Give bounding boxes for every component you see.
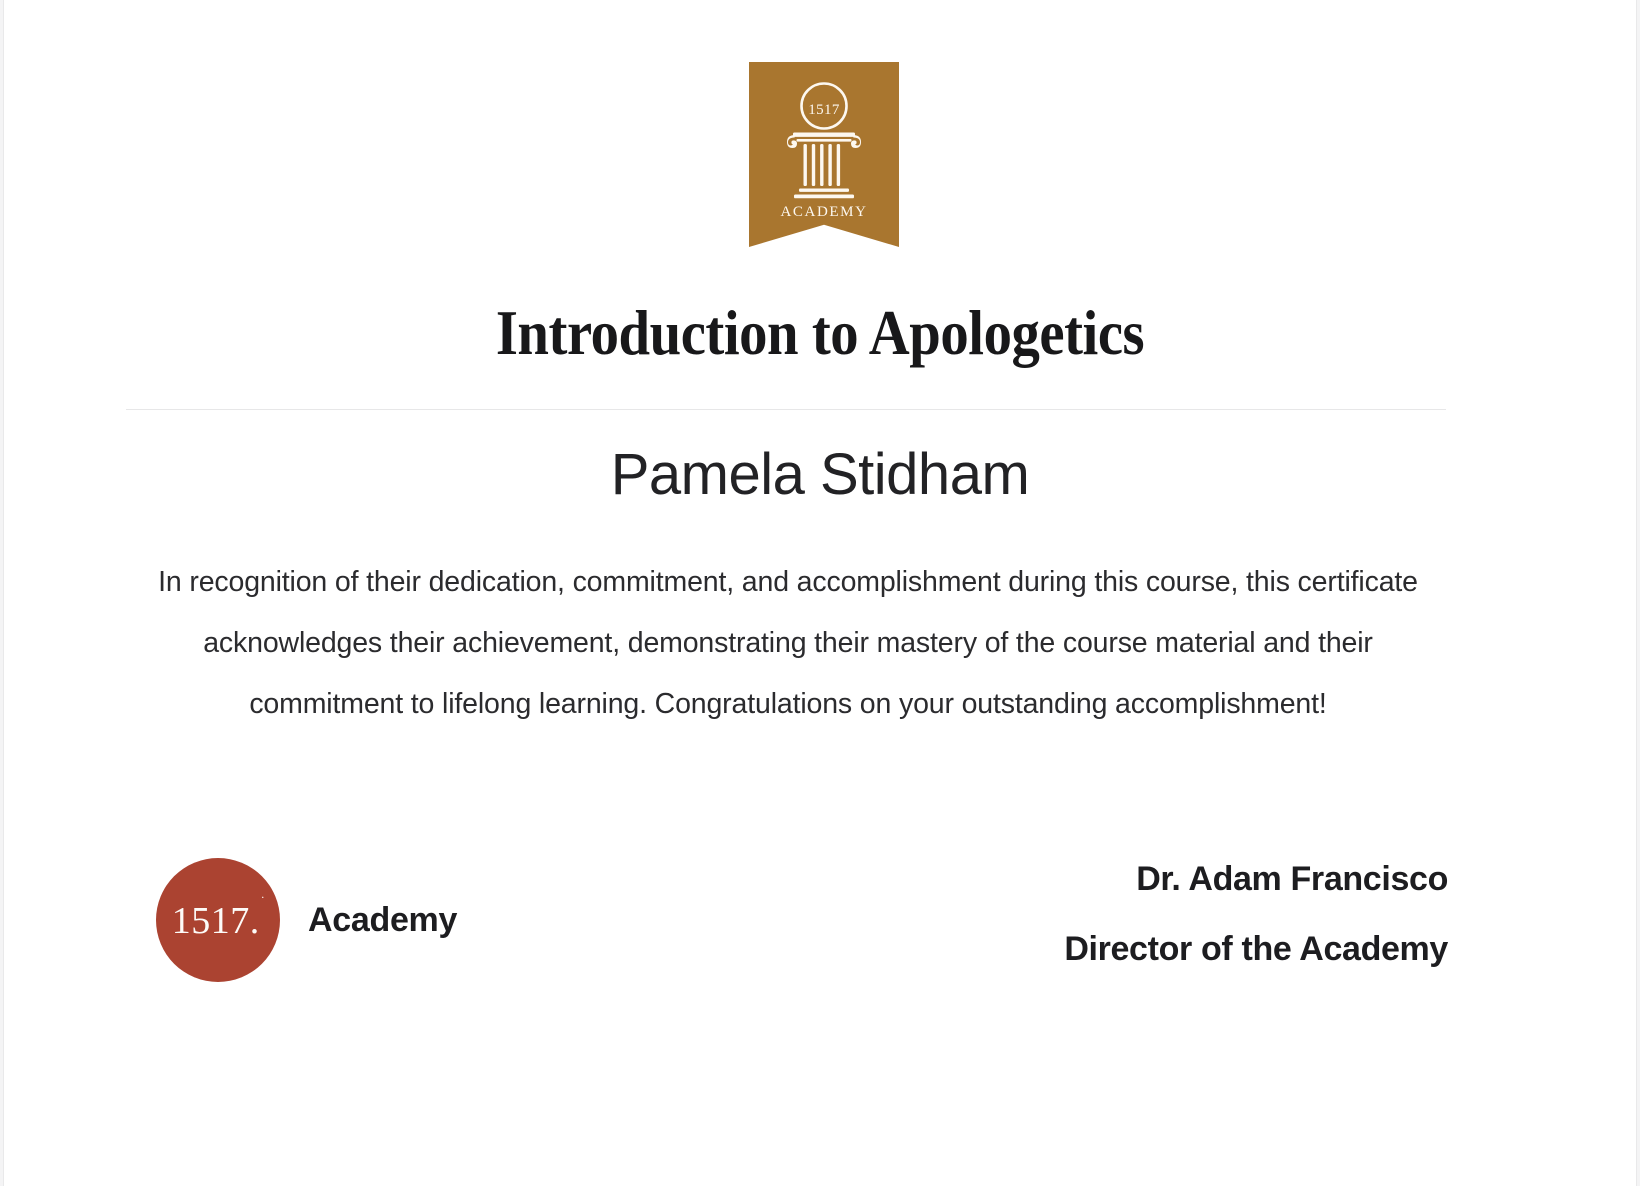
- issuer-seal-icon: 1517.·: [156, 858, 280, 982]
- issuer-seal-year: 1517.·: [172, 899, 265, 943]
- signatory-block: Dr. Adam Francisco Director of the Acade…: [1064, 844, 1448, 984]
- issuer-block: 1517.· Academy: [156, 858, 457, 982]
- issuer-seal-year-text: 1517: [172, 900, 250, 942]
- page-title: Introduction to Apologetics: [86, 300, 1555, 367]
- academy-crest: 1517 ACADEMY: [749, 62, 899, 247]
- signatory-name: Dr. Adam Francisco: [1064, 844, 1448, 914]
- issuer-seal-superscript: ·: [261, 890, 266, 904]
- certificate-footer: 1517.· Academy Dr. Adam Francisco Direct…: [128, 836, 1448, 1006]
- issuer-seal-period: .: [250, 900, 260, 942]
- divider: [126, 409, 1446, 410]
- issuer-name: Academy: [308, 901, 457, 940]
- svg-text:ACADEMY: ACADEMY: [780, 204, 867, 220]
- citation-paragraph: In recognition of their dedication, comm…: [128, 552, 1448, 735]
- signatory-role: Director of the Academy: [1064, 914, 1448, 984]
- certificate-card: 1517 ACADEMY Introduction to A: [3, 0, 1637, 1186]
- academy-column-crest-icon: 1517 ACADEMY: [749, 62, 899, 247]
- svg-text:1517: 1517: [808, 102, 840, 118]
- recipient-name: Pamela Stidham: [4, 443, 1636, 508]
